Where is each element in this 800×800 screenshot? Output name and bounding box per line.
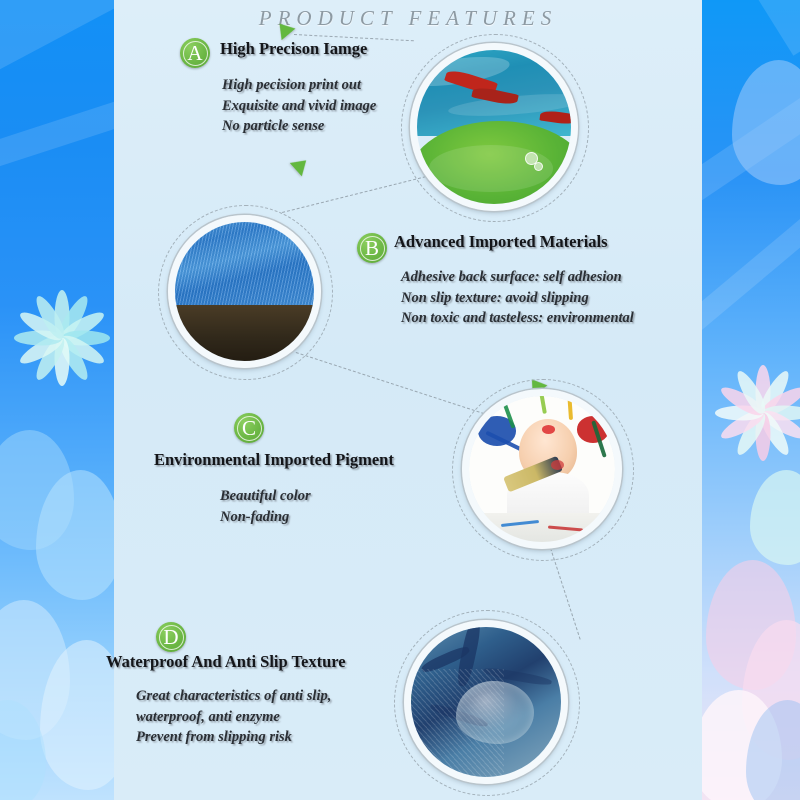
feature-line: Exquisite and vivid image: [222, 96, 376, 117]
water-droplet-texture-photo: [404, 620, 568, 784]
flower-rosette-right: [720, 370, 800, 456]
feature-line: Non-fading: [220, 507, 311, 528]
feature-lines-b: Adhesive back surface: self adhesion Non…: [401, 267, 634, 329]
baby-painting-photo: [462, 389, 622, 549]
connector-a-to-b: [282, 176, 426, 213]
left-decorative-border: [0, 0, 114, 800]
feature-line: Non toxic and tasteless: environmental: [401, 308, 634, 329]
feature-title-d: Waterproof And Anti Slip Texture: [106, 652, 346, 672]
arrow-to-photo-b: [290, 154, 312, 177]
koi-pond-mat-photo: [410, 43, 578, 211]
feature-lines-c: Beautiful color Non-fading: [220, 486, 311, 527]
feature-line: High pecision print out: [222, 75, 376, 96]
feature-line: Beautiful color: [220, 486, 311, 507]
feature-badge-c: C: [234, 413, 264, 443]
page-title: PRODUCT FEATURES: [114, 6, 702, 31]
blue-fabric-backing-photo: [168, 215, 321, 368]
main-content-panel: PRODUCT FEATURES A High Precison Iamge H…: [114, 0, 702, 800]
feature-line: Non slip texture: avoid slipping: [401, 288, 634, 309]
feature-badge-d: D: [156, 622, 186, 652]
right-decorative-border: [702, 0, 800, 800]
feature-line: waterproof, anti enzyme: [136, 707, 331, 728]
feature-title-a: High Precison Iamge: [220, 39, 367, 59]
feature-lines-a: High pecision print out Exquisite and vi…: [222, 75, 376, 137]
feature-title-c: Environmental Imported Pigment: [154, 450, 394, 470]
feature-title-b: Advanced Imported Materials: [394, 232, 608, 252]
feature-lines-d: Great characteristics of anti slip, wate…: [136, 686, 331, 748]
product-features-infographic: PRODUCT FEATURES A High Precison Iamge H…: [0, 0, 800, 800]
feature-badge-b: B: [357, 233, 387, 263]
feature-badge-a: A: [180, 38, 210, 68]
feature-line: Prevent from slipping risk: [136, 727, 331, 748]
connector-c-to-d: [550, 548, 581, 640]
flower-rosette-left: [14, 290, 110, 386]
feature-line: No particle sense: [222, 116, 376, 137]
feature-line: Great characteristics of anti slip,: [136, 686, 331, 707]
feature-line: Adhesive back surface: self adhesion: [401, 267, 634, 288]
